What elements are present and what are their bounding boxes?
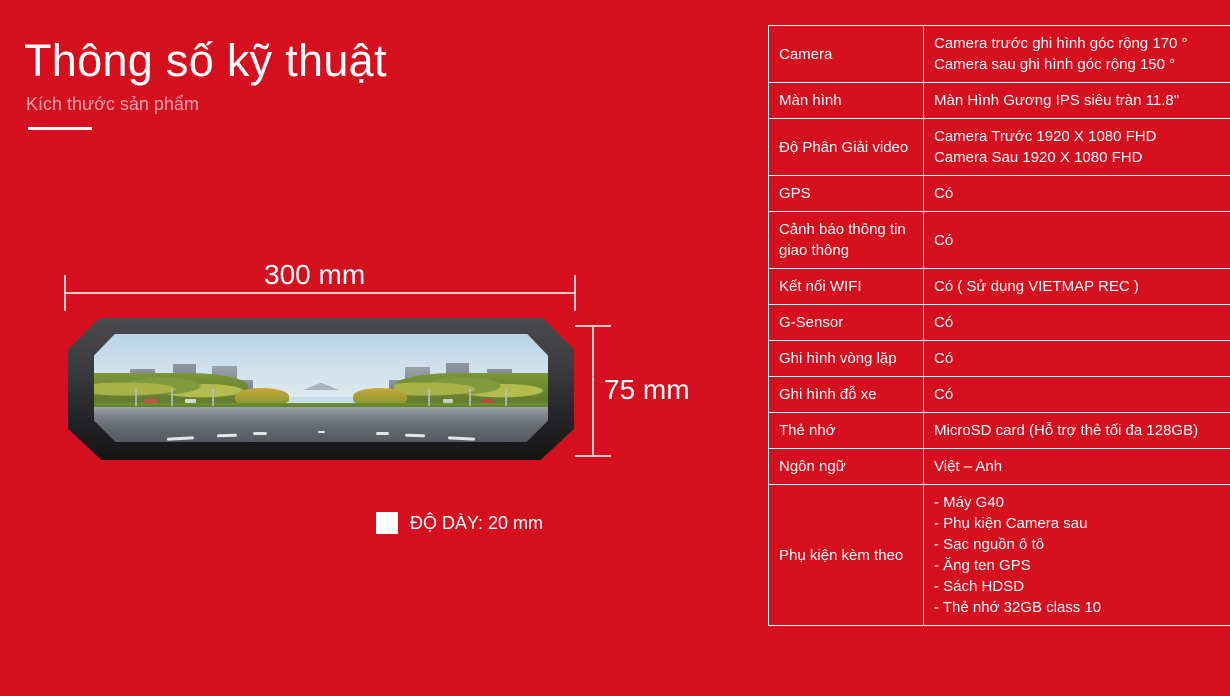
scene-light-pole <box>212 389 214 406</box>
table-row: Ghi hình đỗ xeCó <box>769 377 1230 413</box>
spec-key-cell: Màn hình <box>769 83 924 119</box>
scene-light-pole <box>428 389 430 406</box>
scene-car <box>144 399 158 403</box>
spec-key-cell: Phụ kiện kèm theo <box>769 485 924 626</box>
table-row: Ngôn ngữViệt – Anh <box>769 449 1230 485</box>
spec-key-cell: Ghi hình vòng lặp <box>769 341 924 377</box>
table-row: Thẻ nhớMicroSD card (Hỗ trợ thẻ tối đa 1… <box>769 413 1230 449</box>
scene-lane-marking <box>253 432 267 435</box>
page-title: Thông số kỹ thuật <box>24 32 387 90</box>
scene-car <box>185 399 196 403</box>
spec-value-cell: Có ( Sử dụng VIETMAP REC ) <box>924 269 1230 305</box>
width-dimension-cap-right <box>574 275 576 311</box>
thickness-legend: ĐỘ DÀY: 20 mm <box>376 512 543 534</box>
scene-lane-marking <box>405 434 426 438</box>
spec-key-cell: Độ Phân Giải video <box>769 119 924 176</box>
spec-key-cell: G-Sensor <box>769 305 924 341</box>
height-dimension-line <box>592 326 594 456</box>
spec-value-cell: Có <box>924 341 1230 377</box>
table-row: Màn hìnhMàn Hình Gương IPS siêu tràn 11.… <box>769 83 1230 119</box>
page-subtitle: Kích thước sản phẩm <box>26 92 199 116</box>
scene-lane-marking <box>217 434 238 438</box>
scene-lane-marking <box>376 432 390 435</box>
spec-value-cell: Có <box>924 377 1230 413</box>
spec-value-cell: - Máy G40 - Phụ kiện Camera sau - Sạc ng… <box>924 485 1230 626</box>
scene-light-pole <box>135 389 137 406</box>
spec-value-cell: Camera trước ghi hình góc rộng 170 ° Cam… <box>924 26 1230 83</box>
height-dimension-cap-top <box>575 325 611 327</box>
table-row: Cảnh báo thông tin giao thôngCó <box>769 212 1230 269</box>
scene-car <box>481 399 494 403</box>
scene-light-pole <box>505 389 507 406</box>
spec-value-cell: Màn Hình Gương IPS siêu tràn 11.8" <box>924 83 1230 119</box>
table-row: G-SensorCó <box>769 305 1230 341</box>
table-row: Ghi hình vòng lặpCó <box>769 341 1230 377</box>
height-dimension-cap-bottom <box>575 455 611 457</box>
width-dimension-label: 300 mm <box>264 258 365 292</box>
specification-table: CameraCamera trước ghi hình góc rộng 170… <box>768 25 1230 626</box>
table-row: Độ Phân Giải videoCamera Trước 1920 X 10… <box>769 119 1230 176</box>
table-row: GPSCó <box>769 176 1230 212</box>
scene-lane-marking <box>448 436 475 440</box>
spec-value-cell: Camera Trước 1920 X 1080 FHD Camera Sau … <box>924 119 1230 176</box>
spec-value-cell: Việt – Anh <box>924 449 1230 485</box>
product-dimension-panel: Thông số kỹ thuật Kích thước sản phẩm 30… <box>0 0 760 696</box>
scene-car <box>443 399 453 403</box>
scene-light-pole <box>469 389 471 406</box>
spec-value-cell: MicroSD card (Hỗ trợ thẻ tối đa 128GB) <box>924 413 1230 449</box>
height-dimension-label: 75 mm <box>604 373 690 407</box>
table-row: Phụ kiện kèm theo- Máy G40 - Phụ kiện Ca… <box>769 485 1230 626</box>
thickness-legend-label: ĐỘ DÀY: 20 mm <box>410 512 543 534</box>
scene-light-pole <box>171 389 173 406</box>
thickness-swatch-icon <box>376 512 398 534</box>
spec-page: Thông số kỹ thuật Kích thước sản phẩm 30… <box>0 0 1230 696</box>
spec-value-cell: Có <box>924 212 1230 269</box>
spec-key-cell: Cảnh báo thông tin giao thông <box>769 212 924 269</box>
width-dimension-cap-left <box>64 275 66 311</box>
spec-key-cell: Kết nối WIFI <box>769 269 924 305</box>
scene-lane-marking <box>318 431 324 433</box>
spec-key-cell: Thẻ nhớ <box>769 413 924 449</box>
scene-lane-marking <box>167 436 194 440</box>
table-row: Kết nối WIFICó ( Sử dụng VIETMAP REC ) <box>769 269 1230 305</box>
spec-key-cell: GPS <box>769 176 924 212</box>
spec-key-cell: Ghi hình đỗ xe <box>769 377 924 413</box>
spec-key-cell: Ngôn ngữ <box>769 449 924 485</box>
mirror-screen-preview <box>94 334 548 442</box>
mirror-dashcam-image <box>68 318 574 460</box>
table-row: CameraCamera trước ghi hình góc rộng 170… <box>769 26 1230 83</box>
title-underline-rule <box>28 127 92 130</box>
specification-table-body: CameraCamera trước ghi hình góc rộng 170… <box>769 26 1230 626</box>
spec-value-cell: Có <box>924 176 1230 212</box>
width-dimension-line <box>64 292 576 294</box>
spec-key-cell: Camera <box>769 26 924 83</box>
scene-road <box>94 407 548 442</box>
spec-value-cell: Có <box>924 305 1230 341</box>
